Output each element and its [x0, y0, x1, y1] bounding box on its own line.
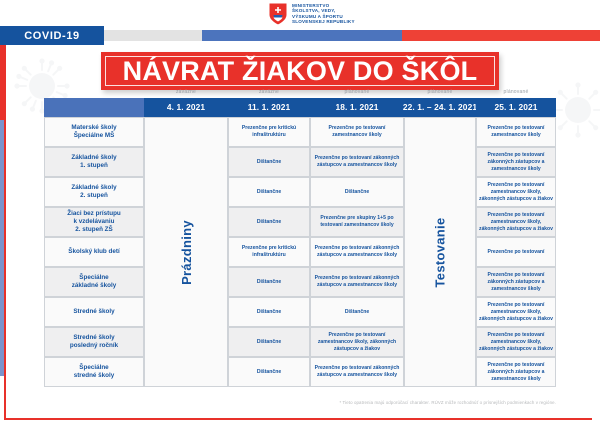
merged-cell-prazdniny-label: Prázdniny [178, 220, 193, 285]
table-row: Základné školy2. stupeňDištančneDištančn… [44, 177, 556, 207]
table-cell: Prezenčne po testovaní zákonných zástupc… [476, 147, 556, 177]
table-row: Špeciálnestredné školyDištančnePrezenčne… [44, 357, 556, 387]
row-label: Špeciálnezákladné školy [44, 267, 144, 297]
table-cell: Prezenčne po testovaní zamestnancov škol… [476, 177, 556, 207]
table-cell: Prezenčne po testovaní zamestnancov škol… [476, 297, 556, 327]
table-row: Stredné školyposledný ročníkDištančnePre… [44, 327, 556, 357]
frame-left-border [4, 44, 6, 420]
table-cell: Prezenčne po testovaní zákonných zástupc… [310, 147, 404, 177]
row-label: Špeciálnestredné školy [44, 357, 144, 387]
table-row: Stredné školyDištančneDištančnePrezenčne… [44, 297, 556, 327]
table-cell: Prezenčne po testovaní zamestnancov škol… [476, 117, 556, 147]
table-prelabel-4: plánované [404, 89, 476, 95]
table-cell: Prezenčne po testovaní zákonných zástupc… [310, 267, 404, 297]
slovak-coat-of-arms-icon [268, 2, 288, 26]
ministry-text-block: MINISTERSTVO ŠKOLSTVA, VEDY, VÝSKUMU A Š… [292, 2, 355, 25]
table-header-corner [44, 98, 144, 117]
table-cell: Prezenčne po testovaní zamestnancov škol… [310, 327, 404, 357]
table-header-date-4: 22. 1. – 24. 1. 2021 [404, 98, 476, 117]
table-cell: Prezenčne po testovaní zamestnancov škol… [476, 327, 556, 357]
table-cell: Prezenčne po testovaní zákonných zástupc… [476, 357, 556, 387]
table-prelabel-5: plánované [476, 89, 556, 95]
table-prelabel-row: záväznezáväzneplánovanéplánovanéplánovan… [44, 89, 556, 95]
row-label: Školský klub detí [44, 237, 144, 267]
table-cell: Prezenčne po testovaní zákonných zástupc… [310, 237, 404, 267]
table-cell: Dištančne [310, 297, 404, 327]
merged-cell-prazdniny: Prázdniny [144, 117, 228, 387]
table-row: Základné školy1. stupeňDištančnePrezenčn… [44, 147, 556, 177]
row-label: Žiaci bez prístupuk vzdelávaniu2. stupeň… [44, 207, 144, 237]
table-cell: Dištančne [228, 357, 310, 387]
table-prelabel-1: záväzne [144, 89, 228, 95]
table-prelabel-2: záväzne [228, 89, 310, 95]
table-row: Školský klub detíPrezenčne pre kritickú … [44, 237, 556, 267]
title-banner: NÁVRAT ŽIAKOV DO ŠKÔL [101, 52, 499, 90]
table-header-date-3: 18. 1. 2021 [310, 98, 404, 117]
table-prelabel-3: plánované [310, 89, 404, 95]
table-body: Materské školyŠpeciálne MŠPrezenčne pre … [44, 117, 556, 387]
schedule-table: 4. 1. 202111. 1. 202118. 1. 202122. 1. –… [44, 98, 556, 387]
table-cell: Prezenčne po testovaní [476, 237, 556, 267]
row-label: Stredné školyposledný ročník [44, 327, 144, 357]
table-prelabel-0 [44, 89, 144, 95]
table-cell: Dištančne [228, 177, 310, 207]
table-cell: Prezenčne po testovaní zákonných zástupc… [476, 267, 556, 297]
header-stripe-red [402, 30, 600, 41]
table-row: Žiaci bez prístupuk vzdelávaniu2. stupeň… [44, 207, 556, 237]
table-cell: Dištančne [228, 147, 310, 177]
merged-cell-testovanie-label: Testovanie [432, 217, 447, 287]
frame-bottom-border [4, 418, 592, 420]
row-label: Základné školy1. stupeň [44, 147, 144, 177]
table-cell: Prezenčne pre skupiny 1+5 po testovaní z… [310, 207, 404, 237]
table-header-date-5: 25. 1. 2021 [476, 98, 556, 117]
header-stripe-blue [202, 30, 402, 41]
header-stripe-grey [104, 30, 202, 41]
table-header-date-1: 4. 1. 2021 [144, 98, 228, 117]
title-banner-inner-rule: NÁVRAT ŽIAKOV DO ŠKÔL [105, 56, 495, 86]
table-header-date-2: 11. 1. 2021 [228, 98, 310, 117]
table-row: Materské školyŠpeciálne MŠPrezenčne pre … [44, 117, 556, 147]
table-cell: Prezenčne pre kritickú infraštruktúru [228, 237, 310, 267]
table-cell: Prezenčne po testovaní zamestnancov škol… [310, 117, 404, 147]
table-cell: Prezenčne pre kritickú infraštruktúru [228, 117, 310, 147]
table-cell: Dištančne [228, 267, 310, 297]
table-cell: Dištančne [228, 297, 310, 327]
row-label: Stredné školy [44, 297, 144, 327]
covid-19-badge-label: COVID-19 [24, 30, 80, 42]
infographic-root: COVID-19 MINISTERSTVO ŠKOLSTVA, VEDY, VÝ… [0, 0, 600, 424]
table-cell: Dištančne [228, 207, 310, 237]
table-cell: Prezenčne po testovaní zamestnancov škol… [476, 207, 556, 237]
table-cell: Dištančne [310, 177, 404, 207]
table-row: Špeciálnezákladné školyDištančnePrezenčn… [44, 267, 556, 297]
page-title: NÁVRAT ŽIAKOV DO ŠKÔL [123, 58, 478, 85]
row-label: Materské školyŠpeciálne MŠ [44, 117, 144, 147]
merged-cell-testovanie: Testovanie [404, 117, 476, 387]
table-cell: Prezenčne po testovaní zákonných zástupc… [310, 357, 404, 387]
row-label: Základné školy2. stupeň [44, 177, 144, 207]
table-header-row: 4. 1. 202111. 1. 202118. 1. 202122. 1. –… [44, 98, 556, 117]
footnote: * Tieto opatrenia majú odporúčací charak… [0, 400, 556, 405]
covid-19-badge: COVID-19 [0, 26, 104, 45]
ministry-logo: MINISTERSTVO ŠKOLSTVA, VEDY, VÝSKUMU A Š… [268, 2, 355, 26]
ministry-line-4: SLOVENSKEJ REPUBLIKY [292, 19, 355, 24]
table-cell: Dištančne [228, 327, 310, 357]
